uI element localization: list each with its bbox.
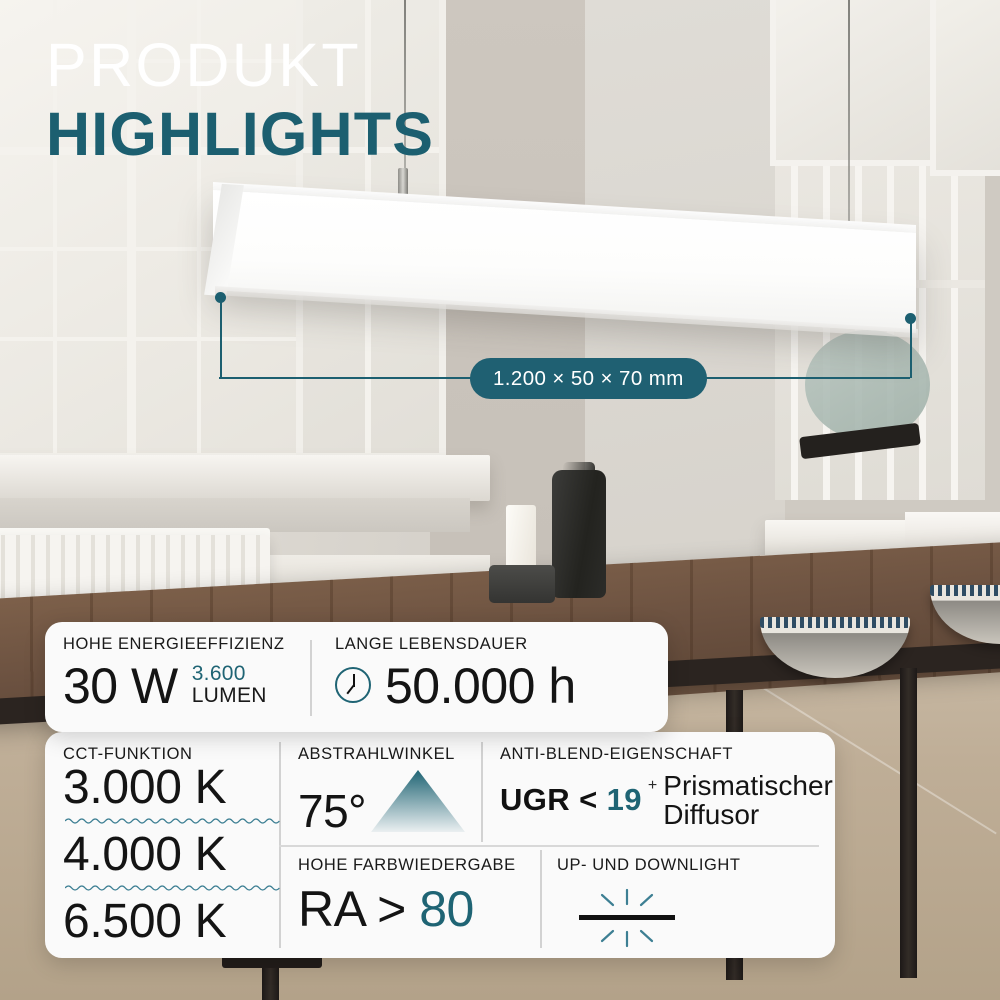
spec-ugr-block: UGR < 19 <box>500 782 642 818</box>
wave-divider-icon <box>65 883 280 892</box>
dimension-leader-right <box>910 319 912 378</box>
spec-energy-value: 30 W <box>63 661 178 711</box>
dimension-leader-left <box>220 298 222 378</box>
spec-updown-label: UP- UND DOWNLIGHT <box>557 856 741 875</box>
spec-energy-efficiency: HOHE ENERGIEEFFIZIENZ 30 W 3.600 LUMEN <box>63 635 284 711</box>
spec-lumen-block: 3.600 LUMEN <box>192 663 267 706</box>
title-line-2: HIGHLIGHTS <box>46 102 434 167</box>
spec-diffusor-line-2: Diffusor <box>663 800 833 829</box>
spec-lumen-unit: LUMEN <box>192 685 267 706</box>
beam-triangle-icon <box>370 768 466 834</box>
up-down-light-icon <box>557 887 697 949</box>
title-line-1: PRODUKT <box>46 34 434 96</box>
dimension-label: 1.200 × 50 × 70 mm <box>470 358 707 399</box>
spec-lifetime-label: LANGE LEBENSDAUER <box>335 635 576 654</box>
spec-anti-glare-label: ANTI-BLEND-EIGENSCHAFT <box>500 745 833 764</box>
spec-lifetime-value: 50.000 h <box>385 661 576 711</box>
spec-beam-angle-label: ABSTRAHLWINKEL <box>298 745 466 764</box>
spec-cri-value: 80 <box>419 881 474 937</box>
spec-card-secondary: CCT-FUNKTION 3.000 K 4.000 K 6.500 K ABS… <box>45 732 835 958</box>
spec-beam-angle-value: 75° <box>298 788 366 834</box>
spec-ugr-value: 19 <box>607 782 642 817</box>
spec-energy-label: HOHE ENERGIEEFFIZIENZ <box>63 635 284 654</box>
wave-divider-icon <box>65 816 280 825</box>
spec-diffusor-block: Prismatischer Diffusor <box>663 771 833 829</box>
spec-diffusor-line-1: Prismatischer <box>663 771 833 800</box>
card-divider-vertical <box>310 640 312 716</box>
spec-color-rendering: HOHE FARBWIEDERGABE RA > 80 <box>298 856 516 938</box>
spec-cct-value-1: 3.000 K <box>63 764 280 813</box>
spec-card-primary: HOHE ENERGIEEFFIZIENZ 30 W 3.600 LUMEN L… <box>45 622 668 732</box>
clock-icon <box>335 667 371 703</box>
spec-cct-value-2: 4.000 K <box>63 831 280 880</box>
spec-cct: CCT-FUNKTION 3.000 K 4.000 K 6.500 K <box>63 745 280 947</box>
spec-plus-sign: + <box>648 777 657 795</box>
spec-cri-prefix: RA > <box>298 881 406 937</box>
spec-beam-angle: ABSTRAHLWINKEL 75° <box>298 745 466 834</box>
spec-up-down-light: UP- UND DOWNLIGHT <box>557 856 741 949</box>
spec-lumen-number: 3.600 <box>192 663 267 684</box>
card-divider-horizontal <box>279 845 819 847</box>
spec-cri-block: RA > 80 <box>298 880 516 938</box>
spec-ugr-prefix: UGR < <box>500 782 598 817</box>
spec-lifetime: LANGE LEBENSDAUER 50.000 h <box>335 635 576 711</box>
spec-anti-glare: ANTI-BLEND-EIGENSCHAFT UGR < 19 + Prisma… <box>500 745 833 829</box>
page-title: PRODUKT HIGHLIGHTS <box>46 34 434 167</box>
card-divider-vertical <box>481 742 483 842</box>
spec-cri-label: HOHE FARBWIEDERGABE <box>298 856 516 875</box>
spec-cct-value-3: 6.500 K <box>63 898 280 947</box>
card-divider-vertical <box>540 850 542 948</box>
